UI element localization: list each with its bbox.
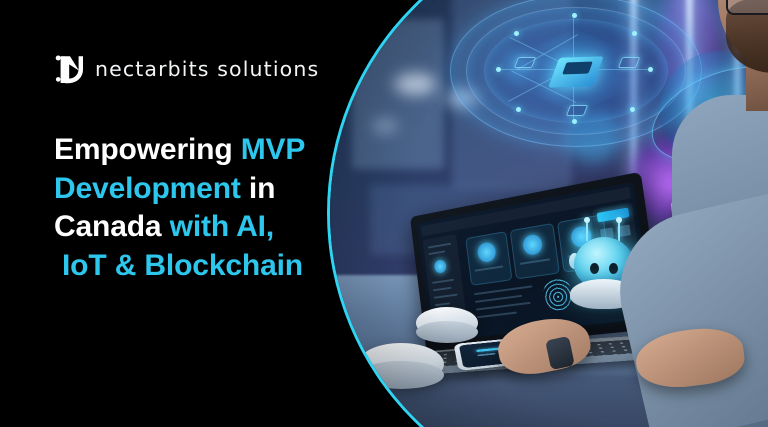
sidebar-row [428, 250, 445, 255]
eyeglasses-icon [726, 0, 768, 15]
sidebar-row [435, 302, 450, 306]
headline-line-1-accent: MVP [241, 133, 306, 166]
promotional-banner: nectarbits solutions Empowering MVP Deve… [0, 0, 768, 427]
hologram-node [630, 107, 635, 112]
smartphone-ui-row [477, 353, 495, 356]
headline-line-3-accent: with AI, [170, 210, 274, 243]
headline-line-2-accent: Development [54, 172, 241, 205]
headline-line-1: Empowering MVP [54, 131, 354, 170]
robot-antenna [586, 221, 588, 241]
sidebar-row [434, 294, 458, 299]
brand-lockup: nectarbits solutions [52, 52, 319, 86]
smart-speaker-puck-base [416, 321, 478, 343]
headline-line-4: IoT & Blockchain [54, 247, 354, 286]
dashboard-text-row [477, 312, 517, 319]
headline-line-2-white: in [241, 172, 276, 205]
hologram-node [648, 67, 653, 72]
hologram-node [516, 107, 521, 112]
hologram-node [632, 31, 637, 36]
nectarbits-logo-icon[interactable] [52, 52, 86, 86]
headline-line-1-white: Empowering [54, 133, 241, 166]
dashboard-text-row [475, 295, 522, 303]
headline-line-4-accent: IoT & Blockchain [62, 249, 303, 282]
headline: Empowering MVP Development in Canada wit… [54, 131, 354, 285]
text-pane: nectarbits solutions Empowering MVP Deve… [0, 0, 360, 427]
headline-line-3: Canada with AI, [54, 208, 354, 247]
robot-eye [609, 263, 618, 274]
sidebar-row [433, 287, 452, 291]
backdrop-panel [352, 19, 444, 169]
robot-antenna [618, 221, 620, 241]
dashboard-text-row [476, 302, 531, 311]
robot-eye [590, 263, 599, 274]
hologram-node [496, 67, 501, 72]
sidebar-badge-icon [434, 259, 447, 274]
dashboard-text-row [474, 285, 532, 295]
smart-speaker-puck-base [358, 361, 444, 389]
bokeh-light [394, 73, 436, 95]
bokeh-light [372, 119, 398, 133]
hologram-node [514, 31, 519, 36]
headline-line-3-white: Canada [54, 210, 170, 243]
hologram-node [572, 13, 577, 18]
hologram-node [572, 119, 577, 124]
sidebar-row [432, 279, 454, 284]
sidebar-row [428, 243, 452, 249]
brand-wordmark: nectarbits solutions [95, 59, 319, 80]
headline-line-2: Development in [54, 170, 354, 209]
